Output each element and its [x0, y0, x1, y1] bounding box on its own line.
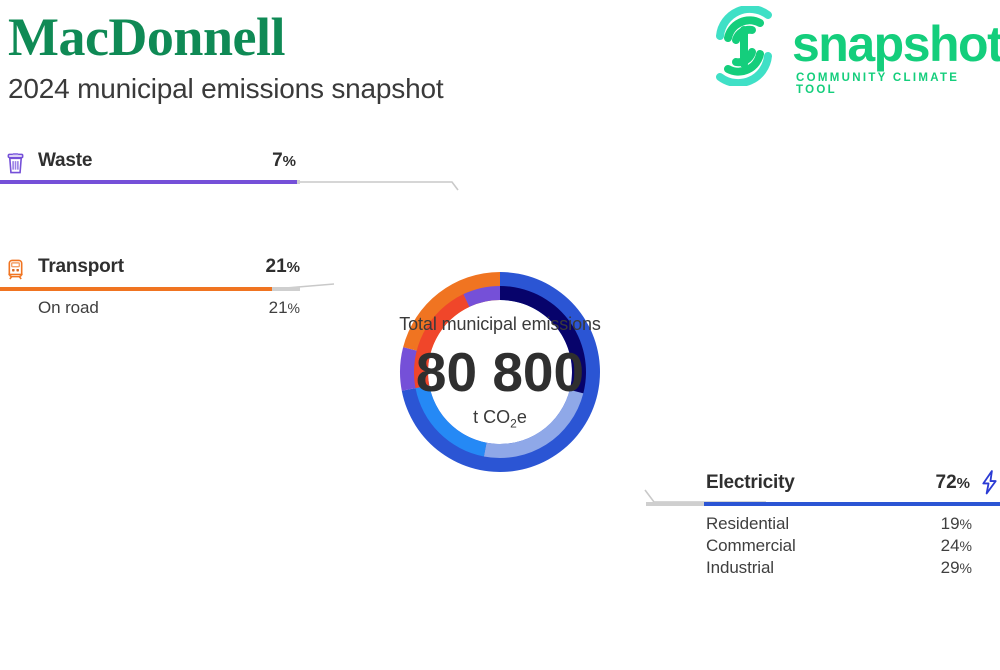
- transport-pct-number: 21: [266, 256, 287, 277]
- residential-pct-symbol: %: [960, 516, 972, 532]
- list-item[interactable]: On road 21%: [0, 298, 300, 320]
- sub-label-on-road: On road: [38, 298, 99, 318]
- sub-label-industrial: Industrial: [706, 558, 774, 578]
- list-item[interactable]: Residential 19%: [706, 514, 1000, 536]
- leader-line-waste: [299, 182, 458, 190]
- waste-pct-number: 7: [272, 150, 283, 171]
- sub-value-commercial: 24%: [941, 536, 972, 556]
- sub-list-electricity: Residential 19% Commercial 24% Industria…: [706, 514, 1000, 580]
- list-item[interactable]: Industrial 29%: [706, 558, 1000, 580]
- industrial-pct-number: 29: [941, 558, 960, 577]
- legend-row-waste[interactable]: Waste 7%: [0, 150, 300, 176]
- bar-fill-transport: [0, 287, 272, 291]
- industrial-pct-symbol: %: [960, 560, 972, 576]
- legend-label-transport: Transport: [38, 256, 124, 278]
- electricity-pct-number: 72: [936, 472, 957, 493]
- legend-row-transport[interactable]: Transport 21%: [0, 256, 300, 282]
- on-road-pct-number: 21: [269, 298, 288, 317]
- legend-value-electricity: 72%: [936, 472, 970, 494]
- sub-list-transport: On road 21%: [0, 298, 300, 320]
- lightning-bolt-icon: [979, 470, 1000, 500]
- legend-block-electricity[interactable]: Electricity 72% Residential 19% Commerci…: [706, 470, 1000, 496]
- bar-track-electricity: [646, 502, 1000, 506]
- sub-value-industrial: 29%: [941, 558, 972, 578]
- legend-label-waste: Waste: [38, 150, 92, 172]
- electricity-pct-symbol: %: [957, 475, 970, 492]
- sub-label-commercial: Commercial: [706, 536, 796, 556]
- transport-pct-symbol: %: [287, 259, 300, 276]
- sub-label-residential: Residential: [706, 514, 789, 534]
- sub-value-residential: 19%: [941, 514, 972, 534]
- legend-label-electricity: Electricity: [706, 472, 795, 494]
- bar-track-transport: [0, 287, 300, 291]
- legend-block-transport[interactable]: Transport 21% On road 21%: [0, 256, 300, 282]
- legend-block-waste[interactable]: Waste 7%: [0, 150, 300, 176]
- train-icon: [6, 259, 25, 285]
- emissions-snapshot-infographic: MacDonnell 2024 municipal emissions snap…: [0, 0, 1000, 670]
- legend-value-waste: 7%: [272, 150, 296, 172]
- legend-row-electricity[interactable]: Electricity 72%: [706, 470, 1000, 496]
- commercial-pct-symbol: %: [960, 538, 972, 554]
- commercial-pct-number: 24: [941, 536, 960, 555]
- bar-fill-electricity: [704, 502, 1000, 506]
- sub-value-on-road: 21%: [269, 298, 300, 318]
- waste-pct-symbol: %: [283, 153, 296, 170]
- list-item[interactable]: Commercial 24%: [706, 536, 1000, 558]
- bar-track-waste: [0, 180, 300, 184]
- bar-fill-waste: [0, 180, 297, 184]
- trash-bin-icon: [6, 153, 25, 179]
- residential-pct-number: 19: [941, 514, 960, 533]
- legend-value-transport: 21%: [266, 256, 300, 278]
- on-road-pct-symbol: %: [288, 300, 300, 316]
